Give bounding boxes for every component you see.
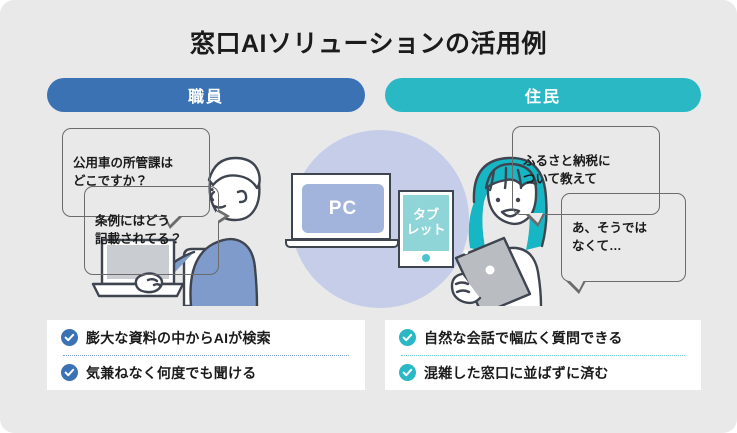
check-circle-icon (61, 364, 78, 381)
benefit-label: 自然な会話で幅広く質問できる (424, 328, 623, 348)
bubble-tail-icon (566, 281, 586, 294)
resident-bubble-1-text: ふるさと納税に ついて教えて (523, 154, 611, 186)
tablet-home-button-icon (422, 254, 430, 262)
benefit-label: 気兼ねなく何度でも聞ける (86, 363, 256, 383)
benefit-row: 気兼ねなく何度でも聞ける (61, 356, 351, 390)
tablet-label-line1: タブ (413, 208, 439, 223)
header-pill-staff: 職員 (47, 78, 365, 112)
resident-bubble-2: あ、そうでは なくて… (561, 193, 686, 282)
check-circle-icon (399, 329, 416, 346)
benefit-row: 膨大な資料の中からAIが検索 (61, 321, 351, 355)
header-pill-staff-label: 職員 (188, 83, 224, 107)
benefit-label: 膨大な資料の中からAIが検索 (86, 328, 271, 348)
laptop-screen-label: PC (302, 184, 384, 233)
resident-benefits-card: 自然な会話で幅広く質問できる 混雑した窓口に並ばずに済む (385, 320, 701, 390)
tablet-illustration: タブ レット (398, 190, 454, 268)
benefit-row: 混雑した窓口に並ばずに済む (399, 356, 687, 390)
staff-bubble-1-text: 公用車の所管課は どこですか？ (73, 156, 173, 188)
staff-bubble-2: 条例にはどう 記載されてる？ (84, 186, 219, 275)
benefit-label: 混雑した窓口に並ばずに済む (424, 363, 609, 383)
resident-bubble-2-text: あ、そうでは なくて… (572, 221, 647, 253)
staff-bubble-2-text: 条例にはどう 記載されてる？ (95, 214, 182, 246)
page-title: 窓口AIソリューションの活用例 (0, 24, 737, 60)
bubble-tail-icon (525, 214, 545, 227)
infographic-page: 窓口AIソリューションの活用例 職員 住民 (0, 0, 737, 433)
laptop-illustration: PC (291, 173, 395, 251)
header-pill-resident: 住民 (385, 78, 701, 112)
staff-benefits-card: 膨大な資料の中からAIが検索 気兼ねなく何度でも聞ける (47, 320, 365, 390)
benefit-row: 自然な会話で幅広く質問できる (399, 321, 687, 355)
header-pill-resident-label: 住民 (525, 83, 561, 107)
check-circle-icon (61, 329, 78, 346)
laptop-base (285, 239, 399, 248)
check-circle-icon (399, 364, 416, 381)
laptop-lid: PC (291, 173, 391, 240)
bubble-tail-icon (218, 209, 230, 224)
tablet-screen: タブ レット (403, 195, 449, 251)
tablet-label-line2: レット (406, 223, 445, 238)
